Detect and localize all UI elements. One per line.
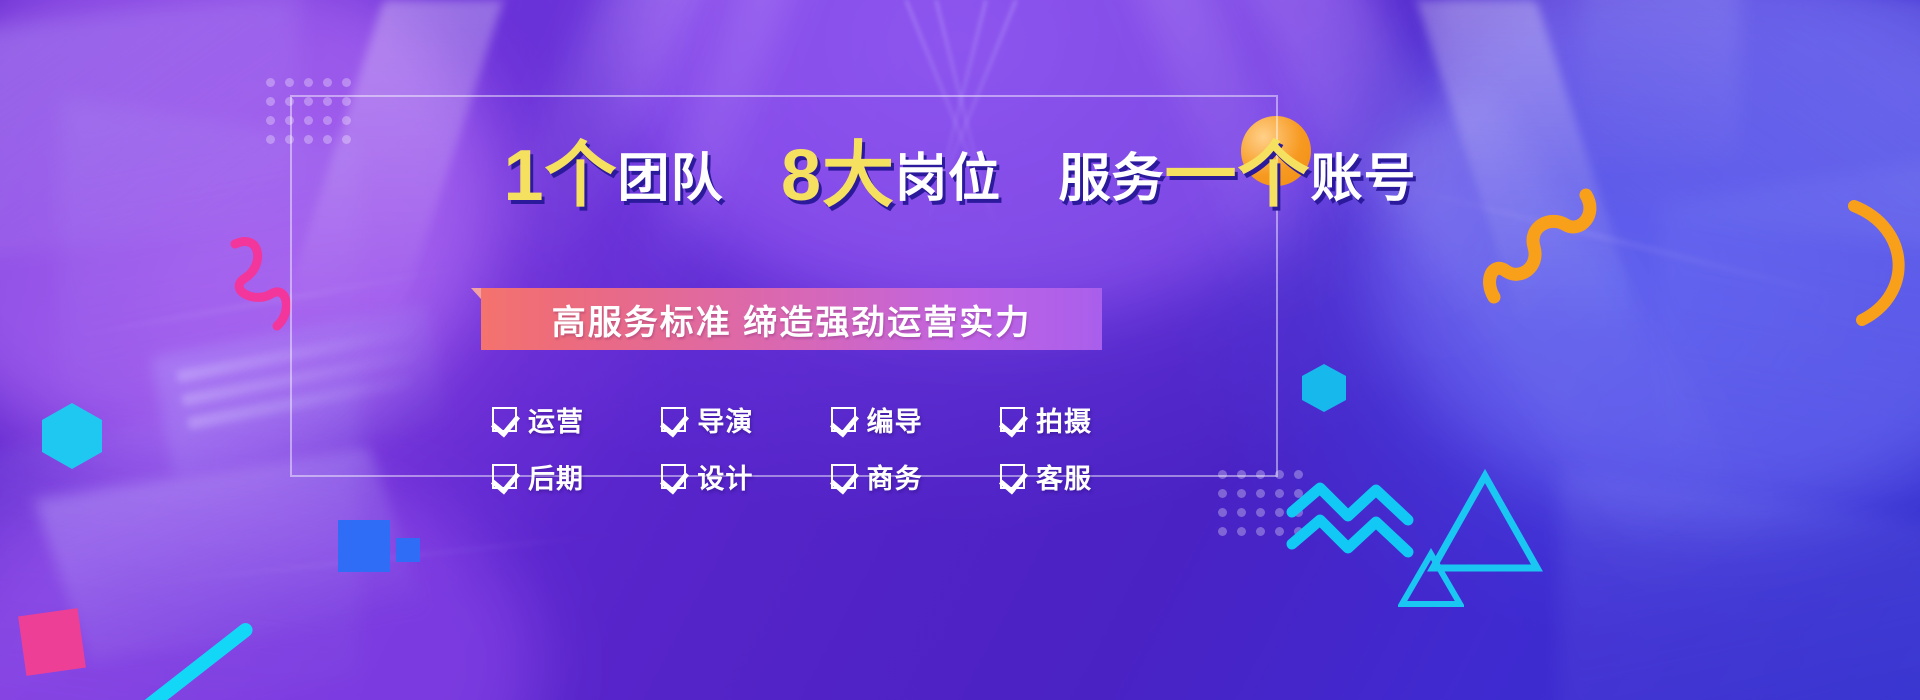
role-row-1: 运营 导演 编导 拍摄 [492, 400, 1092, 439]
role-label: 拍摄 [1036, 400, 1092, 439]
headline-plain-2: 岗位 [895, 150, 1001, 208]
role-item-business: 商务 [831, 457, 923, 496]
role-label: 后期 [528, 457, 584, 496]
headline: 1个团队 8大岗位 服务一个账号 [0, 140, 1920, 212]
role-label: 客服 [1036, 457, 1092, 496]
headline-highlight-3: 一个 [1165, 136, 1311, 216]
headline-highlight-2: 8大 [781, 136, 895, 216]
check-icon [1000, 407, 1025, 432]
headline-prefix-3: 服务 [1058, 150, 1164, 208]
headline-group-positions: 8大岗位 [781, 140, 1001, 212]
check-icon [661, 464, 686, 489]
check-icon [831, 407, 856, 432]
role-label: 导演 [697, 400, 753, 439]
role-row-2: 后期 设计 商务 客服 [492, 457, 1092, 496]
role-label: 商务 [867, 457, 923, 496]
headline-group-team: 1个团队 [503, 140, 723, 212]
role-label: 运营 [528, 400, 584, 439]
role-item-postproduction: 后期 [492, 457, 584, 496]
role-list: 运营 导演 编导 拍摄 后期 [492, 400, 1092, 514]
check-icon [661, 407, 686, 432]
promo-banner: 1个团队 8大岗位 服务一个账号 高服务标准 缔造强劲运营实力 运营 导演 [0, 0, 1920, 700]
check-icon [492, 407, 517, 432]
headline-group-account: 服务一个账号 [1058, 140, 1416, 212]
role-item-customer-service: 客服 [1000, 457, 1092, 496]
check-icon [831, 464, 856, 489]
role-item-operations: 运营 [492, 400, 584, 439]
headline-highlight-1: 1个 [503, 136, 617, 216]
role-item-director: 导演 [661, 400, 753, 439]
subtitle-bar: 高服务标准 缔造强劲运营实力 [481, 288, 1102, 350]
headline-plain-1: 团队 [618, 150, 724, 208]
role-item-design: 设计 [661, 457, 753, 496]
role-label: 编导 [867, 400, 923, 439]
subtitle-text: 高服务标准 缔造强劲运营实力 [552, 295, 1031, 344]
role-item-filming: 拍摄 [1000, 400, 1092, 439]
check-icon [492, 464, 517, 489]
role-label: 设计 [697, 457, 753, 496]
headline-plain-3: 账号 [1311, 150, 1417, 208]
check-icon [1000, 464, 1025, 489]
role-item-scriptwriter: 编导 [831, 400, 923, 439]
